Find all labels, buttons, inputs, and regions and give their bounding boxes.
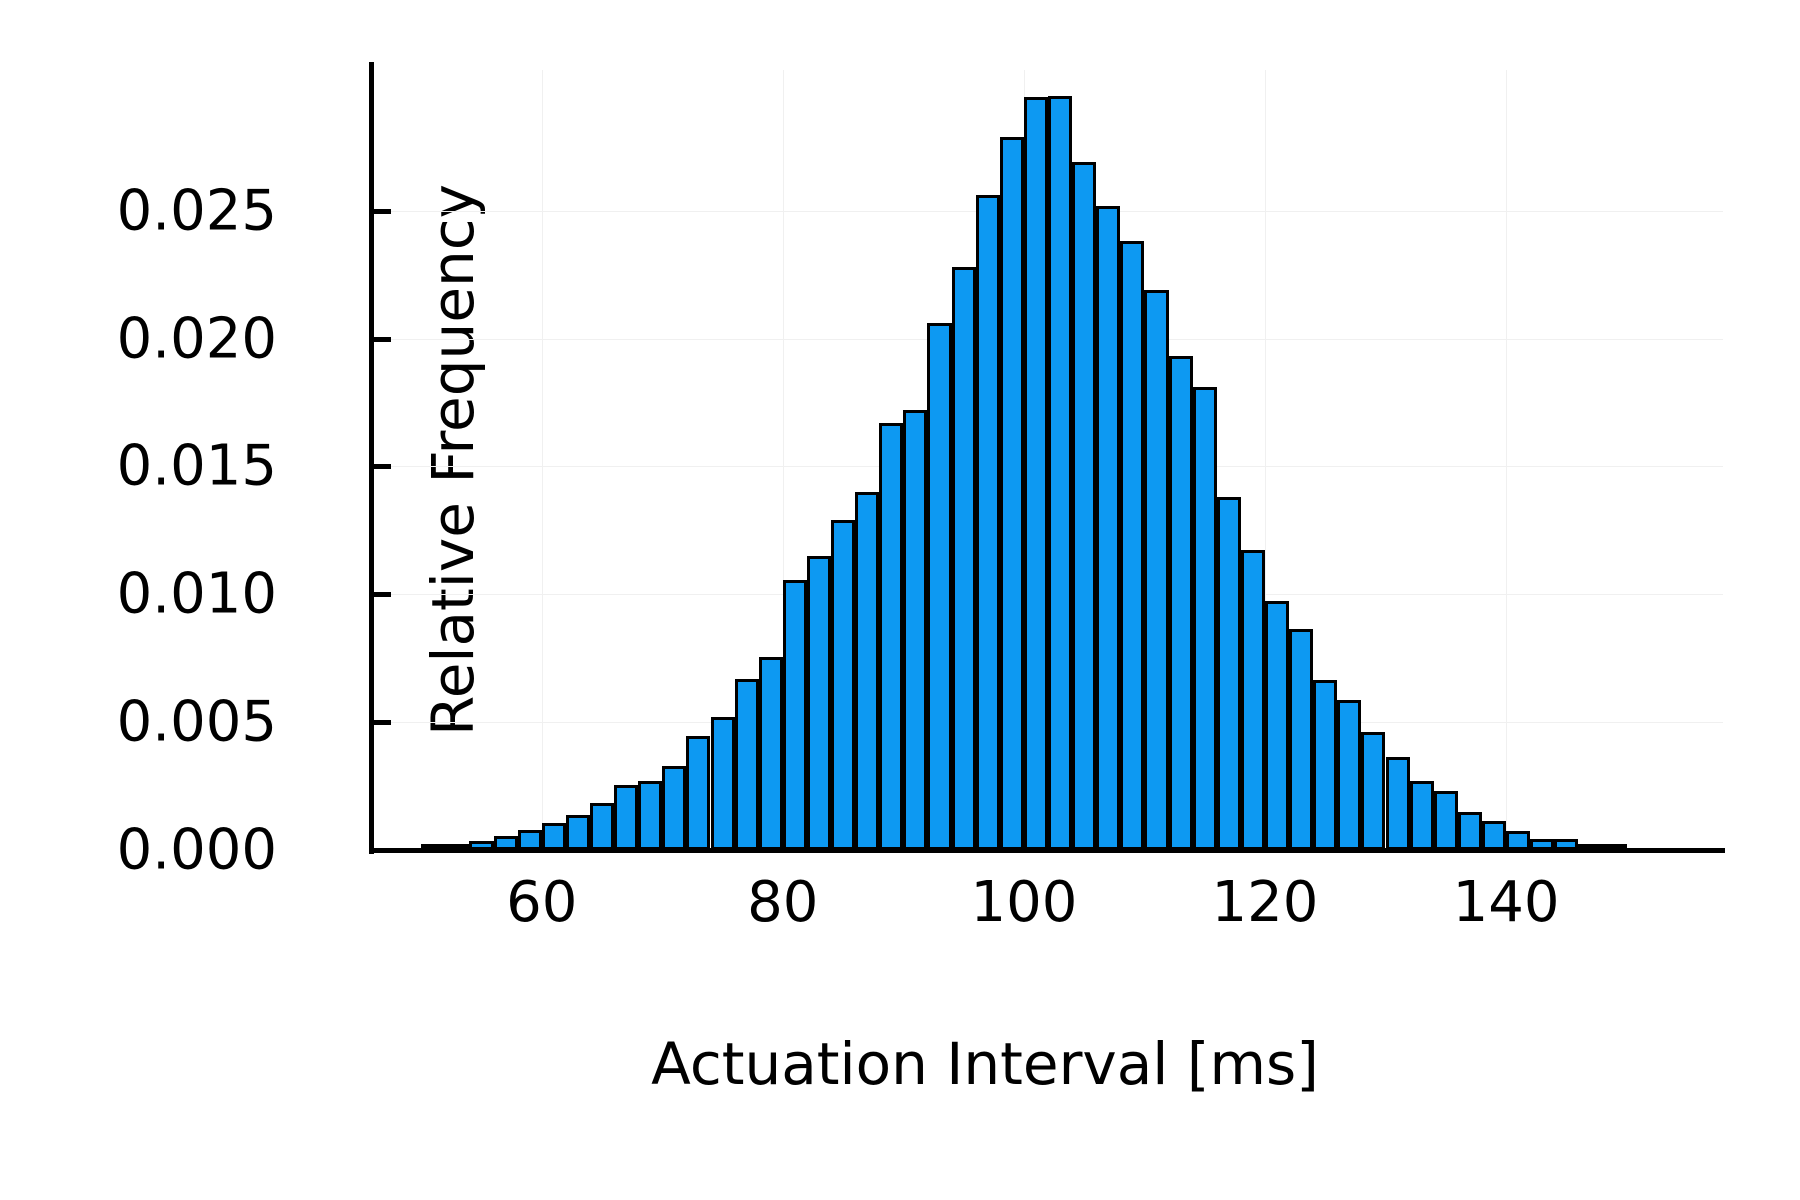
histogram-bar <box>542 823 566 850</box>
histogram-bar <box>1265 601 1289 850</box>
histogram-bar <box>686 736 710 850</box>
histogram-bar <box>1482 821 1506 850</box>
histogram-bar <box>614 785 638 850</box>
histogram-bar <box>807 556 831 850</box>
x-tick-label: 120 <box>1212 870 1319 935</box>
histogram-bars <box>373 70 1723 850</box>
histogram-bar <box>1337 700 1361 850</box>
histogram-bar <box>1096 206 1120 850</box>
histogram-bar <box>1120 241 1144 850</box>
histogram-bar <box>1193 387 1217 850</box>
histogram-bar <box>1458 812 1482 850</box>
histogram-bar <box>1434 791 1458 850</box>
y-tick-label: 0.025 <box>117 178 277 243</box>
y-tick-label: 0.020 <box>117 306 277 371</box>
histogram-bar <box>1506 831 1530 850</box>
histogram-bar <box>1000 137 1024 851</box>
histogram-bar <box>638 781 662 850</box>
histogram-bar <box>1169 356 1193 850</box>
histogram-bar <box>783 580 807 850</box>
x-tick-label: 140 <box>1453 870 1560 935</box>
histogram-bar <box>1386 757 1410 850</box>
histogram-bar <box>1024 97 1048 850</box>
histogram-bar <box>1410 781 1434 850</box>
y-tick-label: 0.000 <box>117 818 277 883</box>
y-tick-label: 0.015 <box>117 434 277 499</box>
x-tick-label: 80 <box>747 870 818 935</box>
x-axis-title: Actuation Interval [ms] <box>481 1030 1319 1098</box>
y-tick-label: 0.005 <box>117 690 277 755</box>
x-tick-label: 60 <box>506 870 577 935</box>
histogram-bar <box>1361 732 1385 850</box>
x-tick-label: 100 <box>970 870 1077 935</box>
histogram-bar <box>1144 290 1168 850</box>
histogram-bar <box>494 836 518 850</box>
histogram-bar <box>1217 497 1241 850</box>
histogram-bar <box>735 679 759 850</box>
histogram-bar <box>1289 629 1313 850</box>
histogram-bar <box>1530 839 1554 851</box>
histogram-bar <box>662 766 686 850</box>
histogram-bar <box>421 844 445 850</box>
histogram-bar <box>445 844 469 850</box>
plot-area: Relative Frequency 0.0000.0050.0100.0150… <box>373 70 1723 850</box>
histogram-bar <box>1602 844 1626 850</box>
histogram-bar <box>711 717 735 850</box>
histogram-bar <box>831 520 855 850</box>
histogram-bar <box>469 841 493 850</box>
histogram-bar <box>1048 96 1072 850</box>
y-tick-label: 0.010 <box>117 562 277 627</box>
histogram-bar <box>976 195 1000 850</box>
histogram-bar <box>903 410 927 850</box>
histogram-bar <box>1241 550 1265 850</box>
histogram-bar <box>566 815 590 850</box>
histogram-bar <box>590 803 614 850</box>
histogram-bar <box>927 323 951 850</box>
histogram-bar <box>1554 839 1578 851</box>
histogram-bar <box>952 267 976 850</box>
histogram-bar <box>879 423 903 850</box>
x-axis-title-wrapper: Actuation Interval [ms] <box>0 1030 1800 1098</box>
histogram-bar <box>1578 844 1602 850</box>
figure: Relative Frequency 0.0000.0050.0100.0150… <box>0 0 1800 1200</box>
histogram-bar <box>759 657 783 850</box>
histogram-bar <box>1072 162 1096 850</box>
histogram-bar <box>1313 680 1337 850</box>
histogram-bar <box>855 492 879 850</box>
histogram-bar <box>518 830 542 850</box>
